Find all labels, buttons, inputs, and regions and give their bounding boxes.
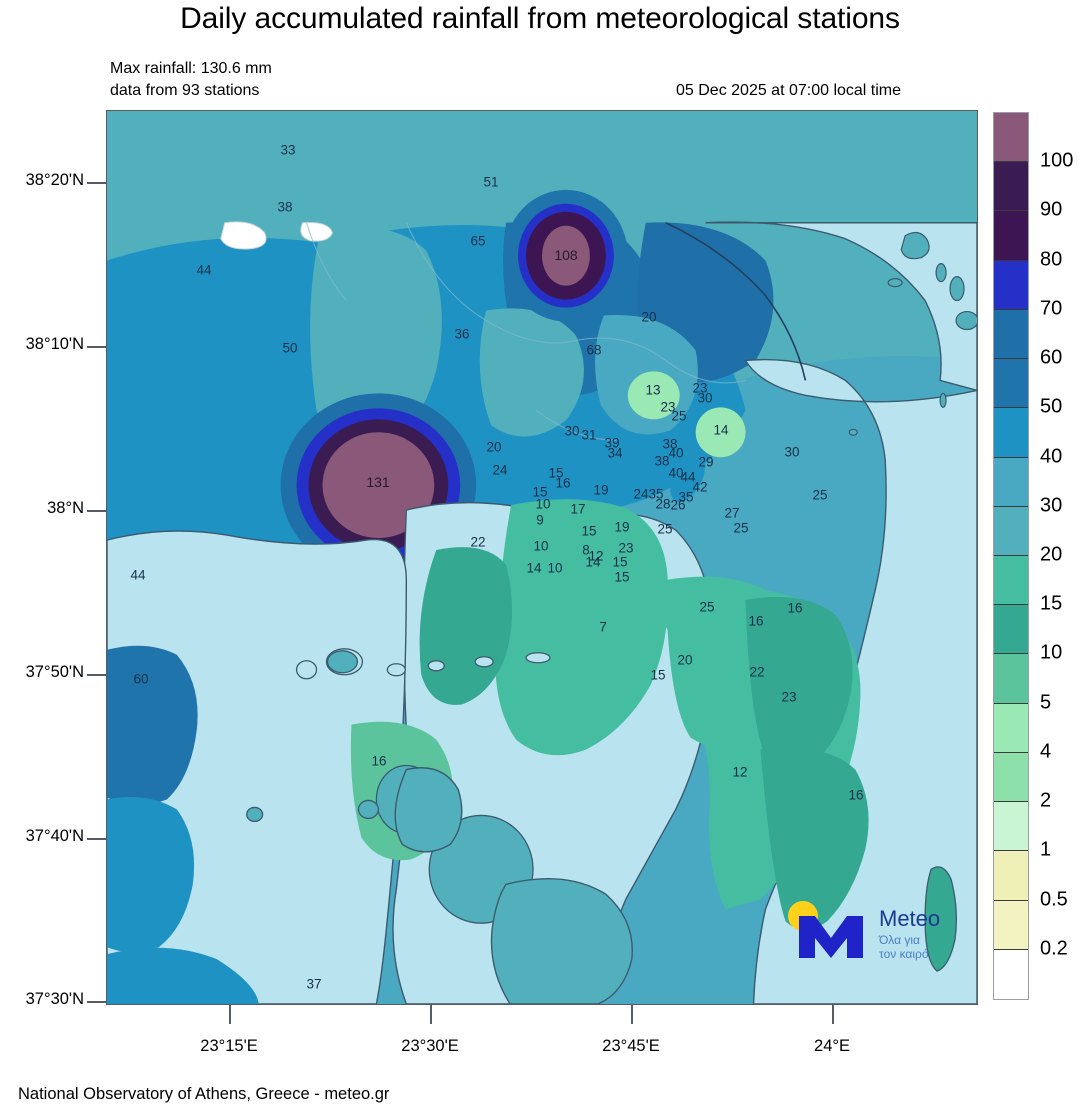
station-value: 23 [781, 690, 796, 705]
station-value: 36 [454, 327, 469, 342]
colorbar-band [994, 950, 1028, 999]
colorbar-tick: 50 [1040, 396, 1062, 419]
station-value: 25 [812, 488, 827, 503]
map-canvas [107, 111, 977, 1004]
lat-label-4: 37°40'N [0, 827, 84, 846]
station-value: 7 [599, 620, 607, 635]
station-value: 10 [535, 497, 550, 512]
station-value: 131 [366, 474, 389, 490]
station-value: 31 [581, 428, 596, 443]
colorbar-band [994, 458, 1028, 507]
lat-tick-5 [87, 1001, 106, 1003]
colorbar-band [994, 162, 1028, 211]
lon-tick-0 [229, 1005, 231, 1024]
station-value: 28 [655, 497, 670, 512]
colorbar-band [994, 851, 1028, 900]
colorbar-band [994, 556, 1028, 605]
colorbar-band [994, 753, 1028, 802]
colorbar-band [994, 261, 1028, 310]
station-value: 30 [697, 391, 712, 406]
station-value: 30 [564, 424, 579, 439]
station-value: 51 [483, 175, 498, 190]
colorbar-tick: 30 [1040, 494, 1062, 517]
station-value: 15 [650, 668, 665, 683]
rainfall-map[interactable] [106, 110, 978, 1005]
logo-tagline-line1: Όλα για [878, 933, 920, 947]
station-value: 9 [536, 513, 544, 528]
lat-tick-0 [87, 182, 106, 184]
station-value: 19 [614, 520, 629, 535]
colorbar-tick: 60 [1040, 347, 1062, 370]
colorbar-tick: 20 [1040, 544, 1062, 567]
station-value: 15 [581, 524, 596, 539]
station-value: 35 [678, 490, 693, 505]
station-value: 30 [784, 445, 799, 460]
station-value: 38 [277, 200, 292, 215]
station-value: 42 [692, 480, 707, 495]
station-value: 25 [657, 522, 672, 537]
station-value: 14 [713, 423, 728, 438]
colorbar-tick: 90 [1040, 199, 1062, 222]
station-value: 25 [671, 409, 686, 424]
station-value: 27 [724, 506, 739, 521]
logo-wordmark: Meteo [879, 906, 940, 931]
colorbar-tick: 70 [1040, 297, 1062, 320]
colorbar-tick: 80 [1040, 248, 1062, 271]
lat-label-2: 38°N [0, 499, 84, 518]
station-value: 20 [677, 653, 692, 668]
station-value: 37 [306, 977, 321, 992]
colorbar-tick: 0.2 [1040, 937, 1068, 960]
lon-tick-3 [832, 1005, 834, 1024]
station-value: 16 [848, 788, 863, 803]
station-value: 25 [733, 521, 748, 536]
station-value: 33 [280, 143, 295, 158]
station-value: 22 [470, 535, 485, 550]
station-value: 15 [614, 570, 629, 585]
station-value: 68 [586, 343, 601, 358]
colorbar-tick: 15 [1040, 593, 1062, 616]
station-value: 24 [633, 487, 648, 502]
colorbar-band [994, 605, 1028, 654]
colorbar-tick: 2 [1040, 790, 1051, 813]
meteo-logo[interactable]: Meteo Όλα για τον καιρό [779, 896, 963, 968]
colorbar-tick: 5 [1040, 691, 1051, 714]
footer-attribution: National Observatory of Athens, Greece -… [18, 1085, 389, 1104]
colorbar-tick: 4 [1040, 740, 1051, 763]
station-value: 20 [641, 310, 656, 325]
station-value: 19 [593, 483, 608, 498]
colorbar-band [994, 654, 1028, 703]
station-value: 50 [282, 341, 297, 356]
lon-label-3: 24°E [814, 1037, 850, 1056]
colorbar-tick: 0.5 [1040, 888, 1068, 911]
meteo-m-mark [799, 916, 863, 958]
lat-tick-1 [87, 346, 106, 348]
lon-label-2: 23°45'E [602, 1037, 659, 1056]
logo-tagline-line2: τον καιρό [879, 947, 929, 961]
station-value: 17 [570, 502, 585, 517]
colorbar-band [994, 802, 1028, 851]
lat-label-0: 38°20'N [0, 171, 84, 190]
station-value: 15 [612, 555, 627, 570]
station-value: 16 [748, 614, 763, 629]
station-value: 38 [654, 454, 669, 469]
lat-label-5: 37°30'N [0, 990, 84, 1009]
station-value: 10 [533, 539, 548, 554]
colorbar-tick: 1 [1040, 839, 1051, 862]
station-value: 24 [492, 463, 507, 478]
colorbar-band [994, 901, 1028, 950]
station-value: 44 [130, 568, 145, 583]
lat-label-3: 37°50'N [0, 663, 84, 682]
station-value: 14 [526, 561, 541, 576]
colorbar-band [994, 310, 1028, 359]
station-value: 22 [749, 665, 764, 680]
station-value: 12 [732, 765, 747, 780]
lat-tick-3 [87, 674, 106, 676]
lat-tick-4 [87, 838, 106, 840]
station-count-label: data from 93 stations [110, 82, 259, 100]
station-value: 44 [196, 263, 211, 278]
colorbar-band [994, 507, 1028, 556]
colorbar-band [994, 211, 1028, 260]
station-value: 23 [618, 541, 633, 556]
station-value: 16 [555, 476, 570, 491]
colorbar-band [994, 704, 1028, 753]
station-value: 20 [486, 440, 501, 455]
lat-label-1: 38°10'N [0, 335, 84, 354]
station-value: 34 [607, 446, 622, 461]
colorbar-band [994, 113, 1028, 162]
lat-tick-2 [87, 510, 106, 512]
station-value: 29 [698, 455, 713, 470]
datetime-label: 05 Dec 2025 at 07:00 local time [676, 82, 901, 100]
lon-label-1: 23°30'E [401, 1037, 458, 1056]
colorbar-tick: 100 [1040, 150, 1073, 173]
station-value: 65 [470, 234, 485, 249]
station-value: 108 [554, 247, 577, 263]
max-rainfall-label: Max rainfall: 130.6 mm [110, 60, 272, 78]
station-value: 16 [787, 601, 802, 616]
rainfall-colorbar[interactable] [993, 112, 1029, 1000]
colorbar-tick: 10 [1040, 642, 1062, 665]
station-value: 10 [547, 561, 562, 576]
page-title: Daily accumulated rainfall from meteorol… [0, 2, 1080, 36]
lon-tick-1 [430, 1005, 432, 1024]
station-value: 16 [371, 754, 386, 769]
colorbar-tick: 40 [1040, 445, 1062, 468]
station-value: 40 [668, 446, 683, 461]
lon-label-0: 23°15'E [200, 1037, 257, 1056]
station-value: 14 [585, 555, 600, 570]
station-value: 13 [645, 383, 660, 398]
station-value: 25 [699, 600, 714, 615]
colorbar-band [994, 408, 1028, 457]
colorbar-band [994, 359, 1028, 408]
lon-tick-2 [631, 1005, 633, 1024]
station-value: 60 [133, 672, 148, 687]
